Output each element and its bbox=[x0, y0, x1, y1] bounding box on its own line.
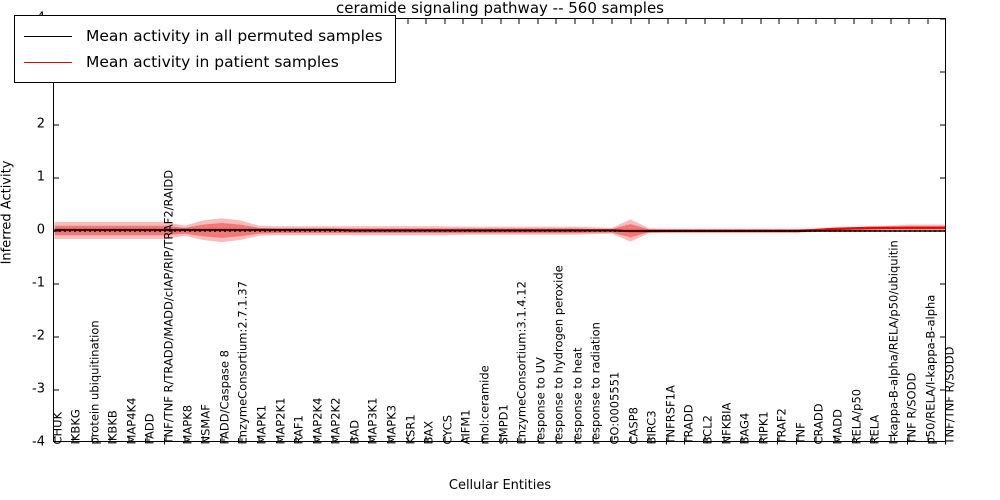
y-tick-mark bbox=[940, 337, 945, 338]
x-tick-mark bbox=[853, 19, 854, 24]
x-tick-mark bbox=[203, 436, 204, 441]
x-tick-mark bbox=[519, 436, 520, 441]
x-tick-mark bbox=[704, 19, 705, 24]
x-tick-mark bbox=[519, 19, 520, 24]
x-tick-mark bbox=[556, 19, 557, 24]
x-tick-mark bbox=[147, 436, 148, 441]
y-tick-mark bbox=[54, 178, 59, 179]
x-tick-mark bbox=[890, 19, 891, 24]
y-tick-label: 1 bbox=[0, 170, 45, 185]
x-tick-mark bbox=[407, 19, 408, 24]
x-tick-mark bbox=[389, 436, 390, 441]
x-tick-mark bbox=[426, 19, 427, 24]
x-tick-mark bbox=[54, 436, 55, 441]
x-tick-mark bbox=[835, 19, 836, 24]
x-tick-mark bbox=[779, 19, 780, 24]
x-tick-mark bbox=[444, 19, 445, 24]
y-tick-label: -2 bbox=[0, 329, 45, 344]
x-tick-mark bbox=[909, 19, 910, 24]
x-tick-mark bbox=[574, 19, 575, 24]
x-tick-mark bbox=[742, 436, 743, 441]
x-tick-mark bbox=[835, 436, 836, 441]
legend-item-permuted: Mean activity in all permuted samples bbox=[24, 23, 383, 49]
x-tick-mark bbox=[91, 436, 92, 441]
x-tick-mark bbox=[816, 19, 817, 24]
y-tick-mark bbox=[54, 390, 59, 391]
x-tick-mark bbox=[872, 19, 873, 24]
y-tick-mark bbox=[940, 284, 945, 285]
y-tick-mark bbox=[940, 390, 945, 391]
x-tick-mark bbox=[537, 19, 538, 24]
x-axis-label: Cellular Entities bbox=[0, 478, 1000, 493]
y-tick-mark bbox=[54, 125, 59, 126]
x-tick-mark bbox=[277, 436, 278, 441]
y-tick-mark bbox=[940, 19, 945, 20]
x-tick-mark bbox=[630, 19, 631, 24]
x-tick-mark bbox=[240, 436, 241, 441]
x-tick-mark bbox=[444, 436, 445, 441]
x-tick-mark bbox=[760, 436, 761, 441]
x-tick-mark bbox=[872, 436, 873, 441]
x-tick-mark bbox=[500, 436, 501, 441]
x-tick-mark bbox=[426, 436, 427, 441]
x-tick-mark bbox=[927, 19, 928, 24]
x-tick-mark bbox=[314, 436, 315, 441]
y-tick-label: 2 bbox=[0, 117, 45, 132]
x-tick-mark bbox=[370, 436, 371, 441]
x-tick-mark bbox=[797, 436, 798, 441]
x-tick-mark bbox=[574, 436, 575, 441]
x-tick-mark bbox=[723, 19, 724, 24]
y-tick-label: -1 bbox=[0, 276, 45, 291]
x-tick-mark bbox=[704, 436, 705, 441]
x-tick-mark bbox=[481, 19, 482, 24]
x-tick-mark bbox=[927, 436, 928, 441]
y-tick-mark bbox=[54, 284, 59, 285]
x-tick-mark bbox=[686, 19, 687, 24]
x-tick-mark bbox=[407, 436, 408, 441]
legend-item-patient: Mean activity in patient samples bbox=[24, 49, 383, 75]
x-tick-mark bbox=[816, 436, 817, 441]
x-tick-mark bbox=[593, 436, 594, 441]
x-tick-mark bbox=[481, 436, 482, 441]
x-tick-mark bbox=[649, 436, 650, 441]
y-tick-label: -4 bbox=[0, 435, 45, 450]
x-tick-mark bbox=[463, 436, 464, 441]
x-tick-mark bbox=[760, 19, 761, 24]
x-tick-mark bbox=[110, 436, 111, 441]
x-tick-mark bbox=[166, 436, 167, 441]
y-tick-mark bbox=[54, 231, 59, 232]
x-tick-mark bbox=[537, 436, 538, 441]
x-tick-mark bbox=[128, 436, 129, 441]
x-tick-mark bbox=[630, 436, 631, 441]
legend-swatch-patient bbox=[24, 62, 72, 63]
x-tick-mark bbox=[184, 436, 185, 441]
x-tick-mark bbox=[612, 436, 613, 441]
y-tick-mark bbox=[940, 125, 945, 126]
x-tick-mark bbox=[890, 436, 891, 441]
figure: ceramide signaling pathway -- 560 sample… bbox=[0, 0, 1000, 500]
y-tick-label: 0 bbox=[0, 223, 45, 238]
x-tick-mark bbox=[612, 19, 613, 24]
x-tick-mark bbox=[779, 436, 780, 441]
legend-label-permuted: Mean activity in all permuted samples bbox=[86, 27, 383, 45]
y-tick-label: -3 bbox=[0, 382, 45, 397]
legend: Mean activity in all permuted samples Me… bbox=[14, 15, 396, 83]
y-tick-mark bbox=[940, 72, 945, 73]
x-tick-mark bbox=[667, 19, 668, 24]
x-tick-mark bbox=[296, 436, 297, 441]
x-tick-mark bbox=[742, 19, 743, 24]
x-tick-mark bbox=[258, 436, 259, 441]
x-tick-mark bbox=[649, 19, 650, 24]
y-tick-mark bbox=[940, 178, 945, 179]
x-tick-mark bbox=[463, 19, 464, 24]
x-tick-mark bbox=[797, 19, 798, 24]
x-tick-mark bbox=[667, 436, 668, 441]
x-tick-mark bbox=[73, 436, 74, 441]
x-tick-mark bbox=[333, 436, 334, 441]
y-tick-mark bbox=[940, 231, 945, 232]
x-tick-mark bbox=[723, 436, 724, 441]
x-tick-mark bbox=[909, 436, 910, 441]
legend-swatch-permuted bbox=[24, 36, 72, 37]
x-tick-mark bbox=[686, 436, 687, 441]
x-tick-mark bbox=[351, 436, 352, 441]
legend-label-patient: Mean activity in patient samples bbox=[86, 53, 339, 71]
x-tick-mark bbox=[221, 436, 222, 441]
x-tick-mark bbox=[853, 436, 854, 441]
x-tick-mark bbox=[593, 19, 594, 24]
x-tick-mark bbox=[556, 436, 557, 441]
y-tick-mark bbox=[54, 337, 59, 338]
x-tick-mark bbox=[500, 19, 501, 24]
